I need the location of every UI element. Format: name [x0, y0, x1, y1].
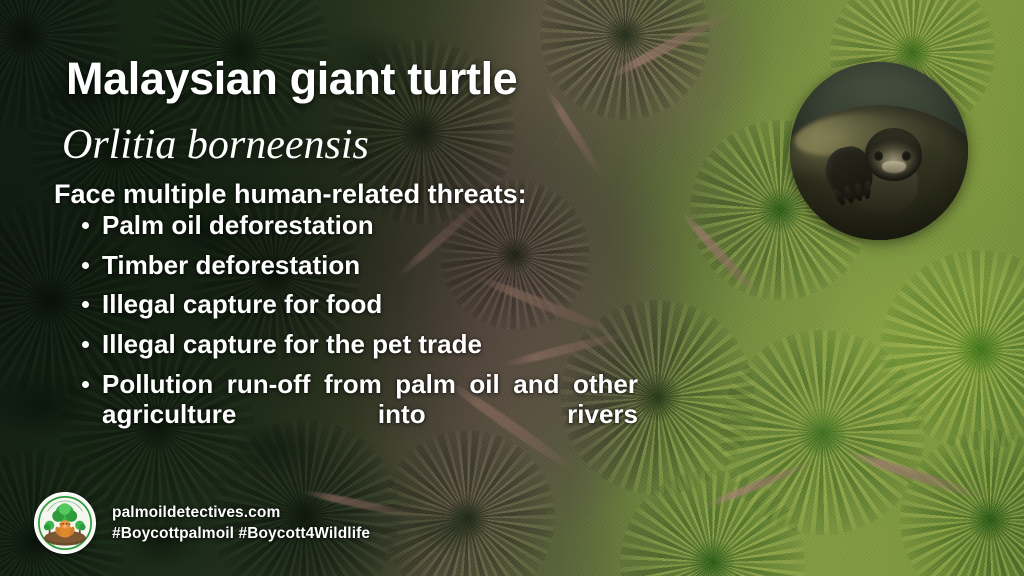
list-item: Illegal capture for the pet trade	[78, 329, 638, 360]
list-item-label: Illegal capture for the pet trade	[102, 329, 482, 359]
bullet-icon	[82, 381, 89, 388]
hashtags[interactable]: #Boycottpalmoil #Boycott4Wildlife	[112, 524, 370, 543]
palm-oil-detectives-logo[interactable]	[34, 492, 96, 554]
list-item-label: Illegal capture for food	[102, 289, 382, 319]
photo-shading	[790, 62, 968, 240]
list-item: Illegal capture for food	[78, 289, 638, 320]
bullet-icon	[82, 341, 89, 348]
turtle-photo-circle	[790, 62, 968, 240]
list-item-label: Timber deforestation	[102, 250, 360, 280]
footer: palmoildetectives.com #Boycottpalmoil #B…	[34, 492, 370, 554]
threats-intro-text: Face multiple human-related threats:	[54, 180, 527, 210]
list-item: Pollution run-off from palm oil and othe…	[78, 369, 638, 461]
bullet-icon	[82, 262, 89, 269]
threats-list: Palm oil deforestation Timber deforestat…	[78, 210, 638, 461]
list-item-label: Palm oil deforestation	[102, 210, 374, 240]
list-item-label: Pollution run-off from palm oil and othe…	[102, 369, 638, 460]
list-item: Palm oil deforestation	[78, 210, 638, 241]
footer-text: palmoildetectives.com #Boycottpalmoil #B…	[112, 503, 370, 544]
page-title: Malaysian giant turtle	[66, 56, 517, 101]
scientific-name: Orlitia borneensis	[62, 124, 369, 166]
infographic-poster: Malaysian giant turtle Orlitia borneensi…	[0, 0, 1024, 576]
website-url[interactable]: palmoildetectives.com	[112, 503, 370, 522]
logo-artwork	[36, 494, 94, 552]
bullet-icon	[82, 222, 89, 229]
bullet-icon	[82, 301, 89, 308]
list-item: Timber deforestation	[78, 250, 638, 281]
